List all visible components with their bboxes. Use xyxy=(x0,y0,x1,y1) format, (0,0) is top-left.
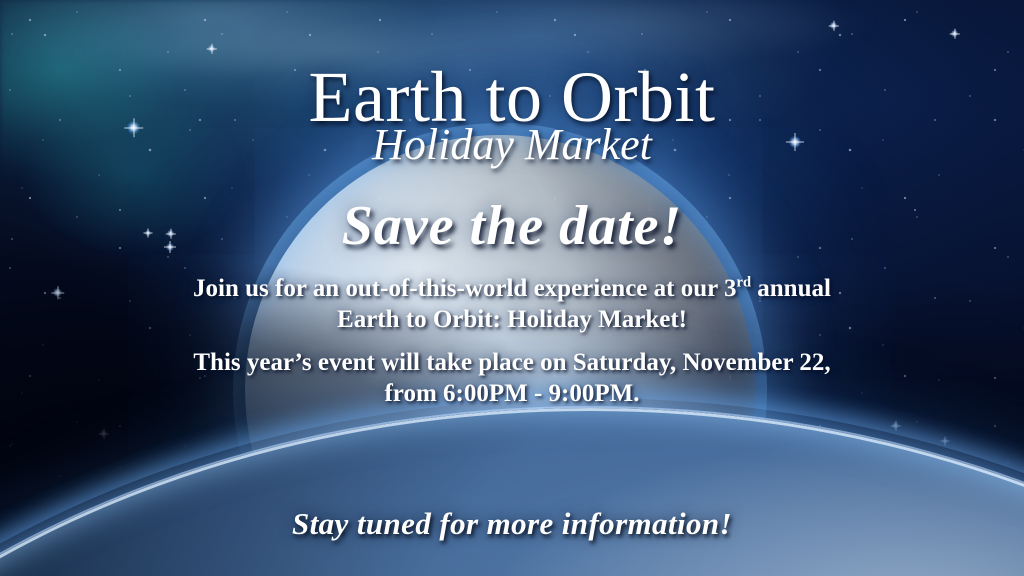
intro-line-1: Join us for an out-of-this-world experie… xyxy=(0,274,1024,305)
ordinal-suffix: rd xyxy=(737,275,752,291)
tagline: Stay tuned for more information! xyxy=(0,507,1024,541)
poster-content: Earth to Orbit Holiday Market Save the d… xyxy=(0,0,1024,576)
intro-line-1-text: Join us for an out-of-this-world experie… xyxy=(193,275,737,302)
intro-line-2: Earth to Orbit: Holiday Market! xyxy=(0,305,1024,336)
page-subtitle: Holiday Market xyxy=(0,121,1024,169)
save-the-date-headline: Save the date! xyxy=(0,196,1024,258)
intro-paragraph: Join us for an out-of-this-world experie… xyxy=(0,274,1024,335)
schedule-line-date: This year’s event will take place on Sat… xyxy=(0,348,1024,379)
schedule-line-time: from 6:00PM - 9:00PM. xyxy=(0,379,1024,410)
save-the-date-poster: Earth to Orbit Holiday Market Save the d… xyxy=(0,0,1024,576)
schedule-paragraph: This year’s event will take place on Sat… xyxy=(0,348,1024,409)
intro-line-1-tail: annual xyxy=(751,275,831,302)
